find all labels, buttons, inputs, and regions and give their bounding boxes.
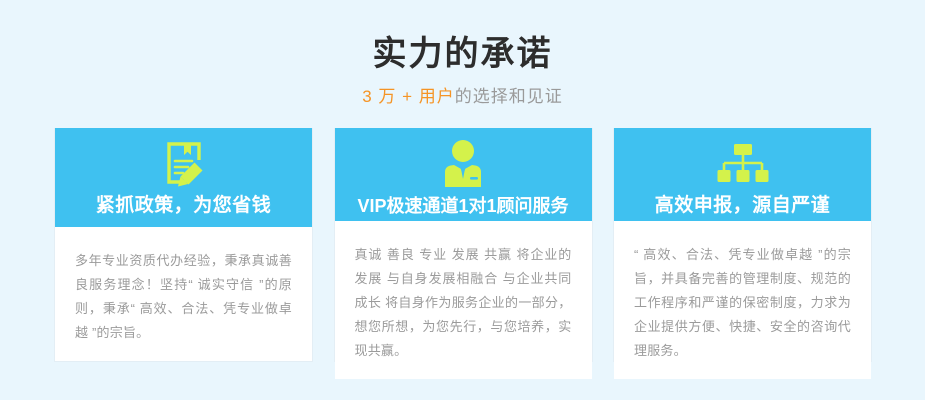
subtitle-accent: 3 万 + 用户 — [362, 87, 455, 106]
card-header: VIP极速通道1对1顾问服务 — [335, 128, 592, 221]
card-title: 高效申报，源自严谨 — [655, 191, 831, 221]
page-title: 实力的承诺 — [0, 32, 925, 76]
org-chart-icon — [716, 136, 770, 191]
card-title: VIP极速通道1对1顾问服务 — [357, 191, 568, 221]
card-body: “ 高效、合法、凭专业做卓越 ”的宗旨，并具备完善的管理制度、规范的工作程序和严… — [614, 221, 871, 379]
feature-card-list: 紧抓政策，为您省钱 多年专业资质代办经验，秉承真诚善良服务理念！坚持“ 诚实守信… — [54, 128, 872, 362]
card-header: 高效申报，源自严谨 — [614, 128, 871, 221]
feature-card-policy[interactable]: 紧抓政策，为您省钱 多年专业资质代办经验，秉承真诚善良服务理念！坚持“ 诚实守信… — [54, 128, 313, 362]
card-description: “ 高效、合法、凭专业做卓越 ”的宗旨，并具备完善的管理制度、规范的工作程序和严… — [634, 243, 851, 363]
page-subtitle: 3 万 + 用户的选择和见证 — [0, 84, 925, 110]
document-pencil-icon — [158, 136, 210, 191]
vip-businessman-icon — [437, 136, 489, 191]
card-body: 真诚 善良 专业 发展 共赢 将企业的发展 与自身发展相融合 与企业共同成长 将… — [335, 221, 592, 379]
feature-card-declaration[interactable]: 高效申报，源自严谨 “ 高效、合法、凭专业做卓越 ”的宗旨，并具备完善的管理制度… — [613, 128, 872, 362]
card-header: 紧抓政策，为您省钱 — [55, 128, 312, 227]
subtitle-rest: 的选择和见证 — [455, 87, 563, 106]
card-title: 紧抓政策，为您省钱 — [96, 191, 272, 221]
promise-section: 实力的承诺 3 万 + 用户的选择和见证 — [0, 0, 925, 400]
card-description: 多年专业资质代办经验，秉承真诚善良服务理念！坚持“ 诚实守信 ”的原则，秉承“ … — [75, 249, 292, 345]
feature-card-vip[interactable]: VIP极速通道1对1顾问服务 真诚 善良 专业 发展 共赢 将企业的发展 与自身… — [334, 128, 593, 362]
card-description: 真诚 善良 专业 发展 共赢 将企业的发展 与自身发展相融合 与企业共同成长 将… — [355, 243, 572, 363]
card-body: 多年专业资质代办经验，秉承真诚善良服务理念！坚持“ 诚实守信 ”的原则，秉承“ … — [55, 227, 312, 361]
section-header: 实力的承诺 3 万 + 用户的选择和见证 — [0, 0, 925, 110]
